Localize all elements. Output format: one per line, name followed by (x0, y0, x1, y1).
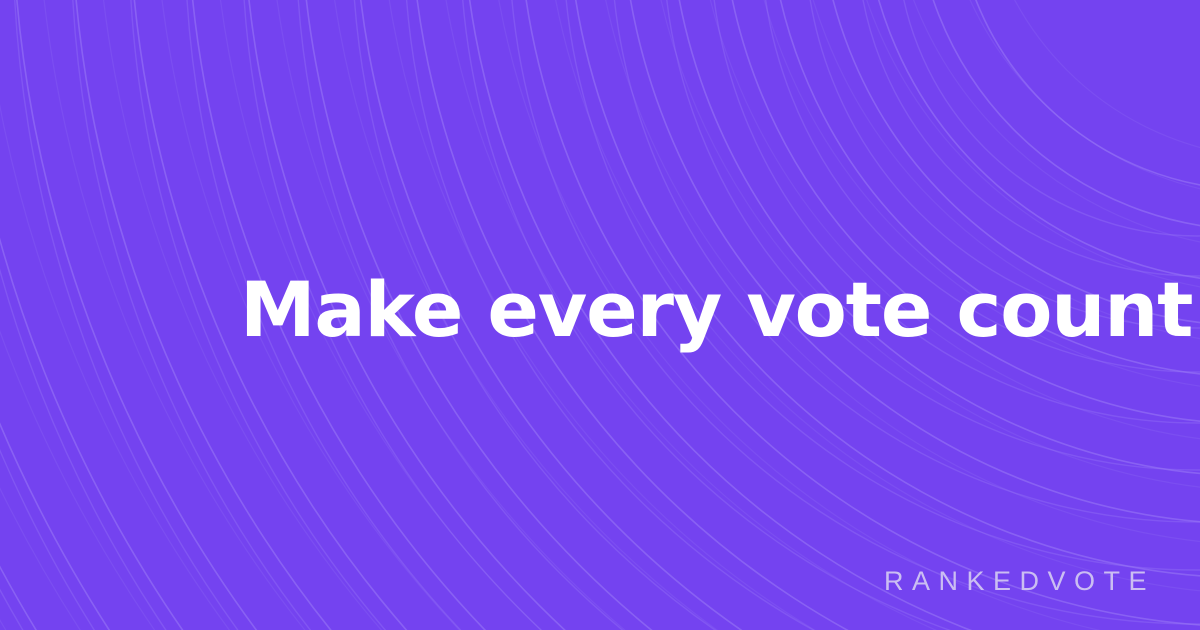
og-share-card: Make every vote count RANKEDVOTE (0, 0, 1200, 630)
brand-logo-wordmark: RANKEDVOTE (875, 566, 1155, 597)
page-title: Make every vote count (240, 272, 1192, 348)
